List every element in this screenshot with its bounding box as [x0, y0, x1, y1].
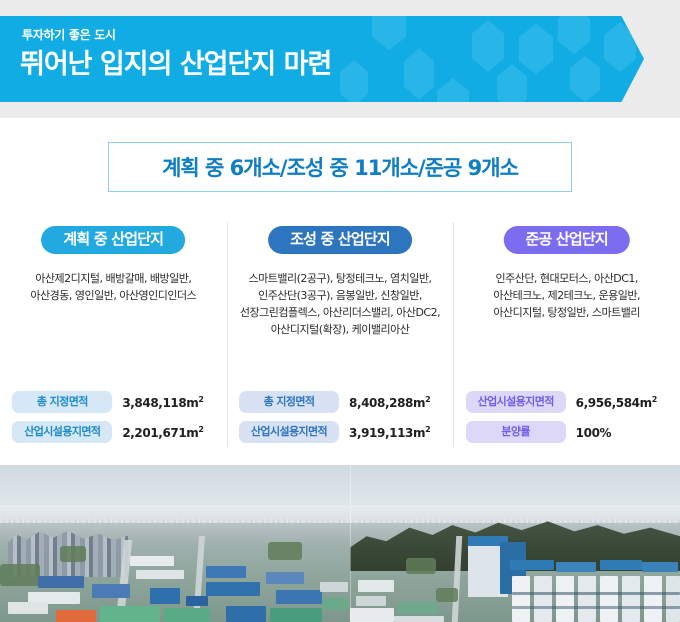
stat-value: 3,848,118m2	[122, 395, 214, 410]
column-header-developing: 조성 중 산업단지	[268, 226, 412, 254]
list-item: 인주산단, 현대모터스, 아산DC1,	[459, 270, 674, 287]
column-list-developing: 스마트밸리(2공구), 탕정테크노, 염치일반, 인주산단(3공구), 음봉일반…	[233, 270, 448, 338]
column-list-completed: 인주산단, 현대모터스, 아산DC1, 아산테크노, 제2테크노, 운용일반, …	[459, 270, 674, 321]
column-header-planning: 계획 중 산업단지	[41, 226, 185, 254]
photo-strip	[0, 465, 680, 622]
list-item: 아산테크노, 제2테크노, 운용일반,	[459, 287, 674, 304]
aerial-photo-right	[350, 465, 680, 622]
list-item: 아산디지털(확장), 케이밸리아산	[233, 321, 448, 338]
stat-value: 2,201,671m2	[122, 425, 214, 440]
stat-label: 산업시설용지면적	[466, 391, 566, 413]
stats-developing: 총 지정면적 8,408,288m2 산업시설용지면적 3,919,113m2	[227, 383, 454, 443]
stat-label: 분양률	[466, 421, 566, 443]
list-item: 아산디지털, 탕정일반, 스마트밸리	[459, 304, 674, 321]
stat-label: 총 지정면적	[239, 391, 339, 413]
stat-label: 총 지정면적	[12, 391, 112, 413]
stat-label: 산업시설용지면적	[239, 421, 339, 443]
aerial-photo-left	[0, 465, 350, 622]
stats-completed: 산업시설용지면적 6,956,584m2 분양률 100%	[453, 383, 680, 443]
column-header-completed: 준공 산업단지	[503, 226, 629, 254]
stat-row: 산업시설용지면적 6,956,584m2	[453, 391, 680, 413]
list-item: 선장그린컴플렉스, 아산리더스밸리, 아산DC2,	[233, 304, 448, 321]
column-planning: 계획 중 산업단지 아산제2디지털, 배방갈매, 배방일반, 아산경동, 영인일…	[0, 218, 227, 465]
stat-row: 산업시설용지면적 3,919,113m2	[227, 421, 454, 443]
summary-box: 계획 중 6개소/조성 중 11개소/준공 9개소	[108, 142, 572, 192]
list-item: 인주산단(3공구), 음봉일반, 신창일반,	[233, 287, 448, 304]
stat-value: 8,408,288m2	[349, 395, 441, 410]
summary-text: 계획 중 6개소/조성 중 11개소/준공 9개소	[162, 152, 518, 182]
banner-subtitle: 투자하기 좋은 도시	[22, 26, 116, 43]
stat-label: 산업시설용지면적	[12, 421, 112, 443]
industrial-complex-columns: 계획 중 산업단지 아산제2디지털, 배방갈매, 배방일반, 아산경동, 영인일…	[0, 218, 680, 465]
column-list-planning: 아산제2디지털, 배방갈매, 배방일반, 아산경동, 영인일반, 아산영인디인더…	[6, 270, 221, 304]
stat-row: 분양률 100%	[453, 421, 680, 443]
list-item: 스마트밸리(2공구), 탕정테크노, 염치일반,	[233, 270, 448, 287]
column-completed: 준공 산업단지 인주산단, 현대모터스, 아산DC1, 아산테크노, 제2테크노…	[453, 218, 680, 465]
header-zone: 투자하기 좋은 도시 뛰어난 입지의 산업단지 마련	[0, 0, 680, 118]
photo-divider	[350, 465, 351, 622]
stat-value: 6,956,584m2	[576, 395, 668, 410]
column-developing: 조성 중 산업단지 스마트밸리(2공구), 탕정테크노, 염치일반, 인주산단(…	[227, 218, 454, 465]
stat-value: 3,919,113m2	[349, 425, 441, 440]
list-item: 아산제2디지털, 배방갈매, 배방일반,	[6, 270, 221, 287]
stat-row: 산업시설용지면적 2,201,671m2	[0, 421, 227, 443]
infographic-page: 투자하기 좋은 도시 뛰어난 입지의 산업단지 마련 계획 중 6개소/조성 중…	[0, 0, 680, 622]
list-item: 아산경동, 영인일반, 아산영인디인더스	[6, 287, 221, 304]
banner-title: 뛰어난 입지의 산업단지 마련	[20, 42, 331, 81]
header-banner: 투자하기 좋은 도시 뛰어난 입지의 산업단지 마련	[0, 16, 644, 102]
stats-planning: 총 지정면적 3,848,118m2 산업시설용지면적 2,201,671m2	[0, 383, 227, 443]
stat-row: 총 지정면적 8,408,288m2	[227, 391, 454, 413]
stat-row: 총 지정면적 3,848,118m2	[0, 391, 227, 413]
stat-value: 100%	[576, 425, 668, 440]
